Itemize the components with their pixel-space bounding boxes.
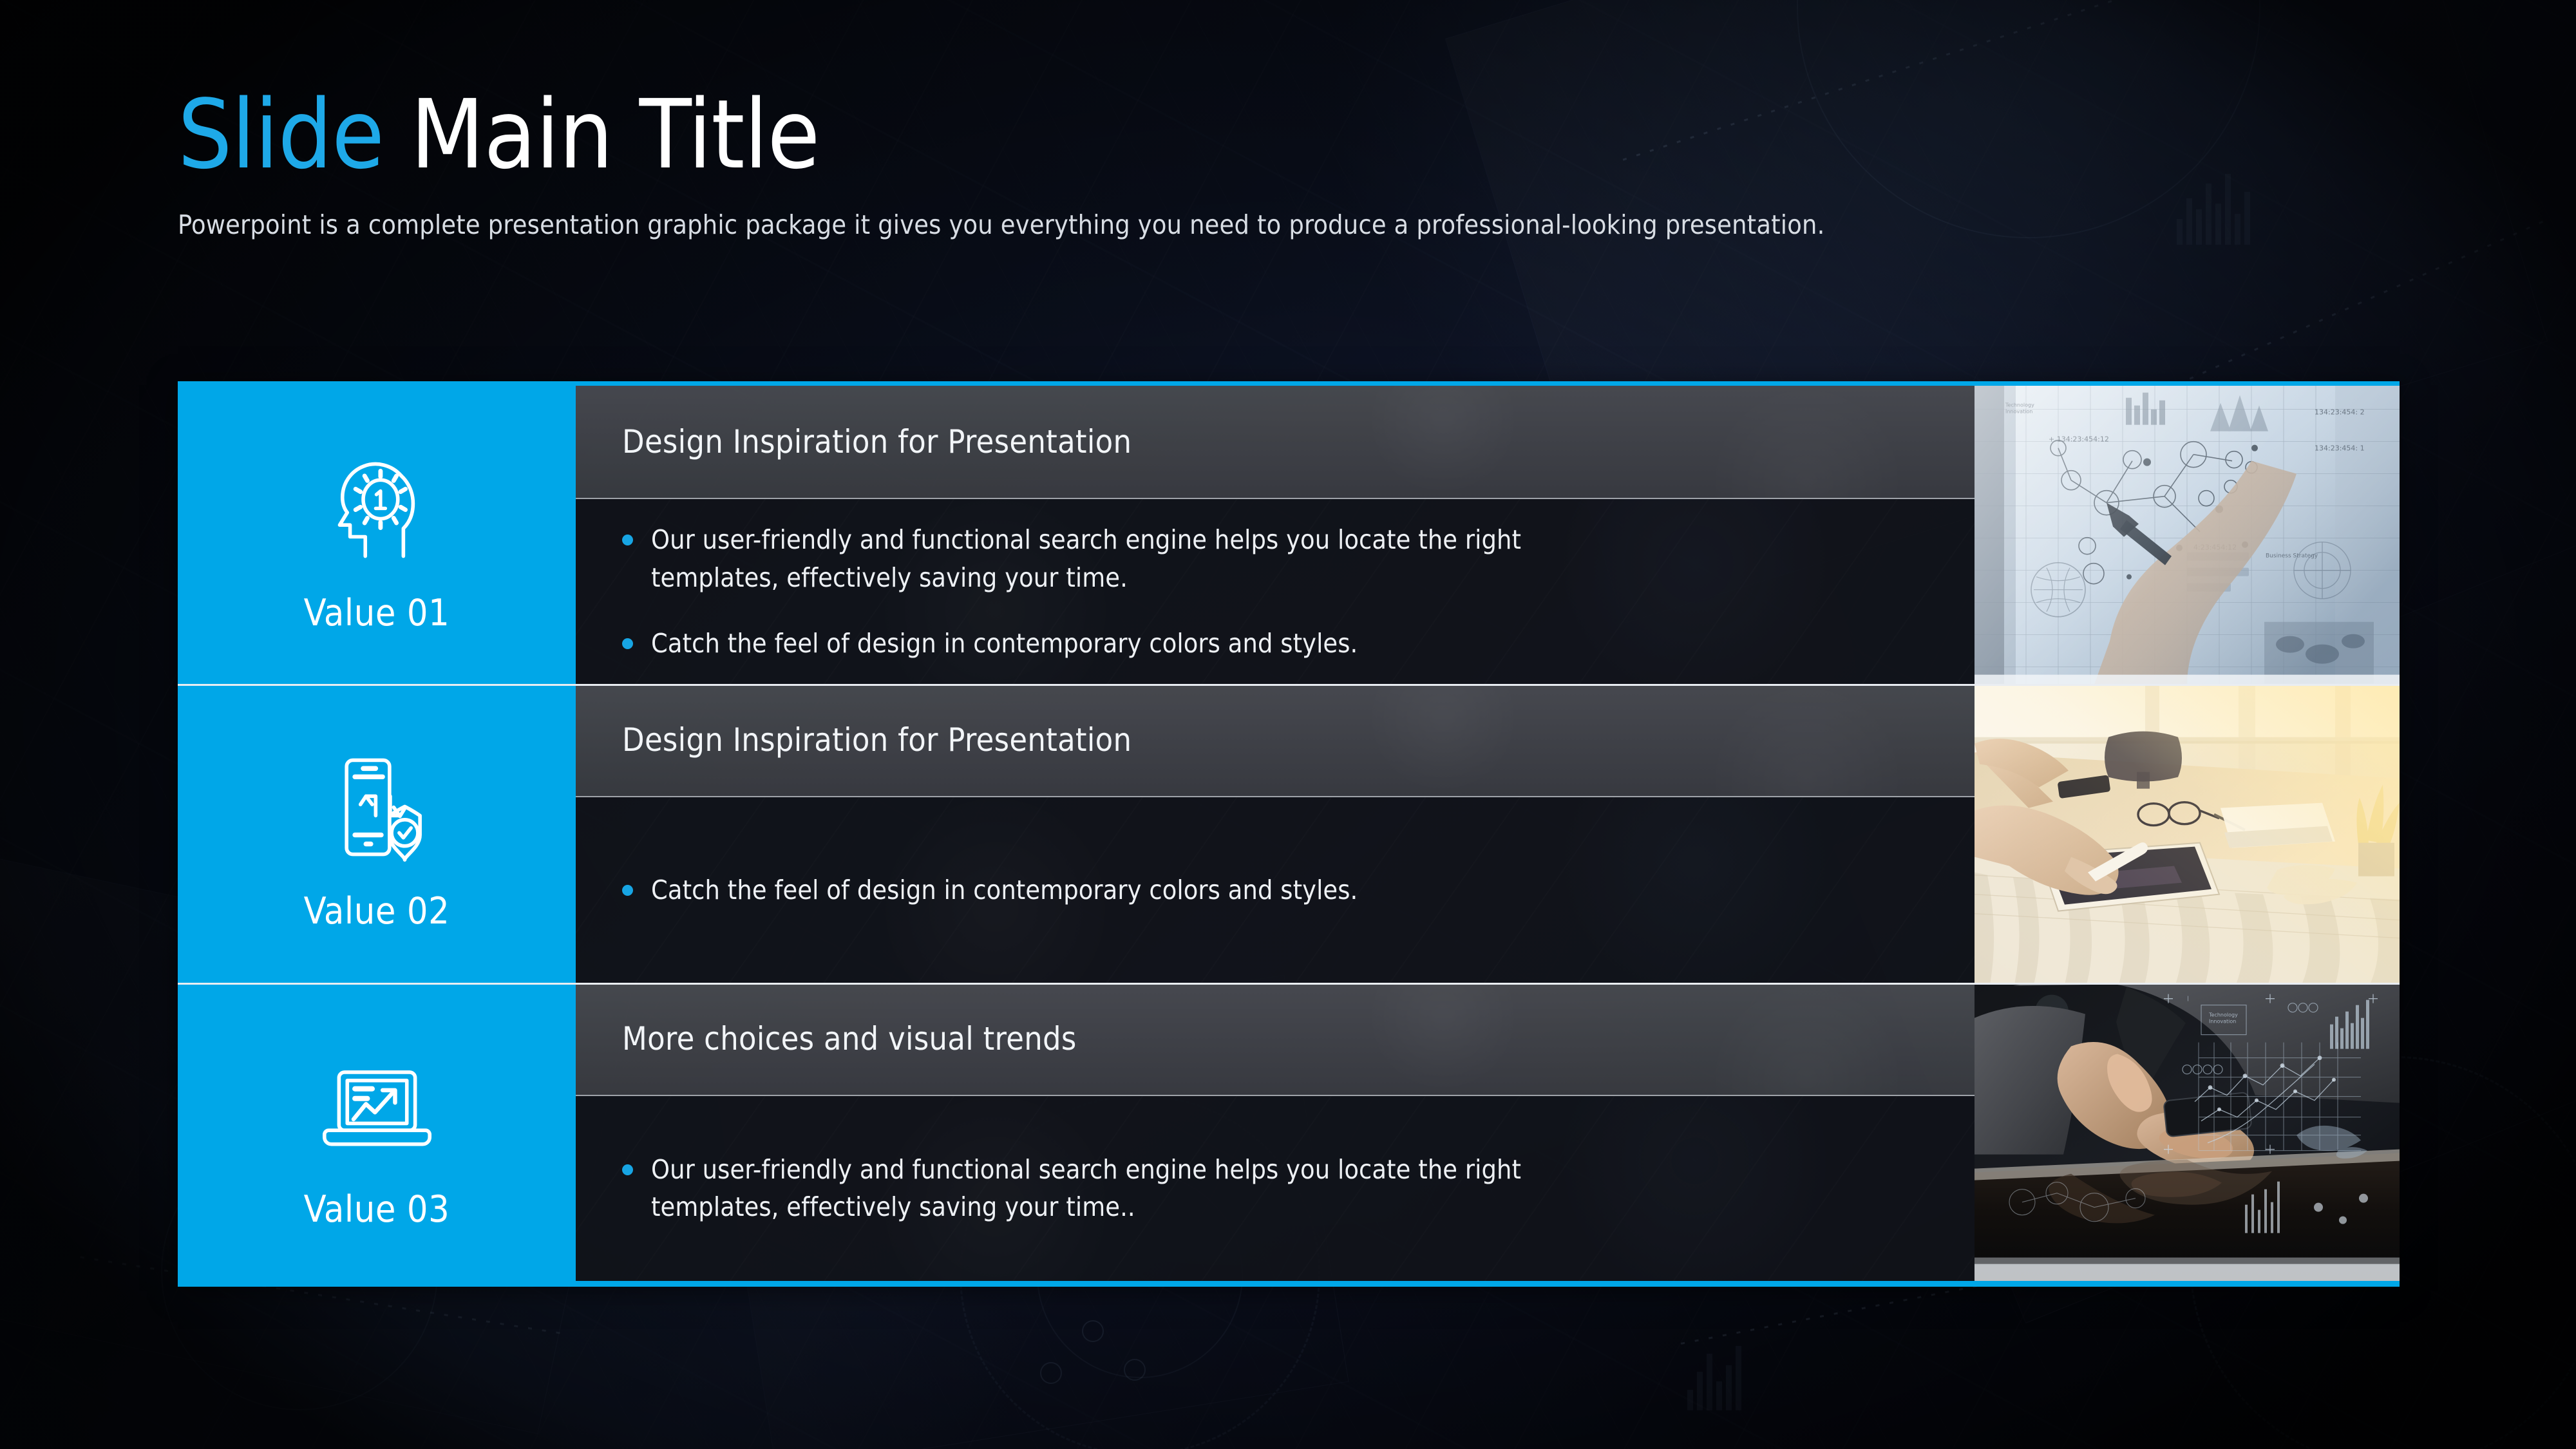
value-label: Value 02 xyxy=(304,893,450,930)
value-panel-2[interactable]: Value 02 xyxy=(178,684,576,982)
page-title-rest: Main Title xyxy=(384,79,819,190)
svg-text:Innovation: Innovation xyxy=(2209,1018,2236,1024)
bullet-list: Catch the feel of design in contemporary… xyxy=(622,871,1936,909)
list-item: Our user-friendly and functional search … xyxy=(622,521,1936,596)
value-heading-bar-1: Design Inspiration for Presentation xyxy=(576,386,1975,499)
value-heading: Design Inspiration for Presentation xyxy=(622,721,1132,759)
bullet-list: Our user-friendly and functional search … xyxy=(622,521,1936,662)
value-row-2[interactable]: Value 02 Design Inspiration for Presenta… xyxy=(178,684,2400,982)
bullet-dot-icon xyxy=(622,885,633,896)
value-body-1: Our user-friendly and functional search … xyxy=(576,499,1975,684)
value-row-1[interactable]: Value 01 Design Inspiration for Presenta… xyxy=(178,386,2400,684)
value-body-3: Our user-friendly and functional search … xyxy=(576,1096,1975,1281)
value-row-3[interactable]: Value 03 More choices and visual trends … xyxy=(178,983,2400,1281)
value-panel-3[interactable]: Value 03 xyxy=(178,983,576,1281)
list-item: Catch the feel of design in contemporary… xyxy=(622,871,1936,909)
bullet-text: Catch the feel of design in contemporary… xyxy=(651,625,1358,662)
value-heading-bar-2: Design Inspiration for Presentation xyxy=(576,684,1975,797)
businessman-smartphone-data-overlay-photo: Technology Innovation | xyxy=(1975,983,2400,1281)
page-title: Slide Main Title xyxy=(178,87,2110,182)
bullet-dot-icon xyxy=(622,535,633,545)
value-text-column-2: Design Inspiration for Presentation Catc… xyxy=(576,684,1975,982)
list-item: Our user-friendly and functional search … xyxy=(622,1151,1936,1226)
value-label: Value 01 xyxy=(304,595,450,632)
value-heading: Design Inspiration for Presentation xyxy=(622,423,1132,460)
hand-drawing-network-diagram-photo: + 134:23:454:12 4:23:454:12 134:23:454: … xyxy=(1975,386,2400,684)
value-text-column-3: More choices and visual trends Our user-… xyxy=(576,983,1975,1281)
value-label: Value 03 xyxy=(304,1191,450,1228)
value-heading-bar-3: More choices and visual trends xyxy=(576,983,1975,1096)
bullet-list: Our user-friendly and functional search … xyxy=(622,1151,1936,1226)
mobile-sync-shield-check-icon xyxy=(308,738,446,876)
head-idea-number-one-icon xyxy=(308,440,446,578)
value-body-2: Catch the feel of design in contemporary… xyxy=(576,797,1975,982)
page-title-accent: Slide xyxy=(178,79,384,190)
values-card: Value 01 Design Inspiration for Presenta… xyxy=(178,381,2400,1287)
value-panel-1[interactable]: Value 01 xyxy=(178,386,576,684)
bullet-dot-icon xyxy=(622,638,633,649)
svg-text:Technology: Technology xyxy=(2208,1012,2238,1018)
bullet-text: Our user-friendly and functional search … xyxy=(651,1151,1643,1226)
slide-header: Slide Main Title Powerpoint is a complet… xyxy=(178,87,2110,240)
value-text-column-1: Design Inspiration for Presentation Our … xyxy=(576,386,1975,684)
value-heading: More choices and visual trends xyxy=(622,1020,1077,1057)
svg-text:|: | xyxy=(2187,995,2189,1001)
bullet-dot-icon xyxy=(622,1164,633,1175)
bullet-text: Catch the feel of design in contemporary… xyxy=(651,871,1358,909)
laptop-growth-chart-icon xyxy=(308,1036,446,1175)
slide-subtitle: Powerpoint is a complete presentation gr… xyxy=(178,209,2110,240)
bullet-text: Our user-friendly and functional search … xyxy=(651,521,1643,596)
list-item: Catch the feel of design in contemporary… xyxy=(622,625,1936,662)
hands-on-tablet-sunlit-desk-photo xyxy=(1975,684,2400,982)
